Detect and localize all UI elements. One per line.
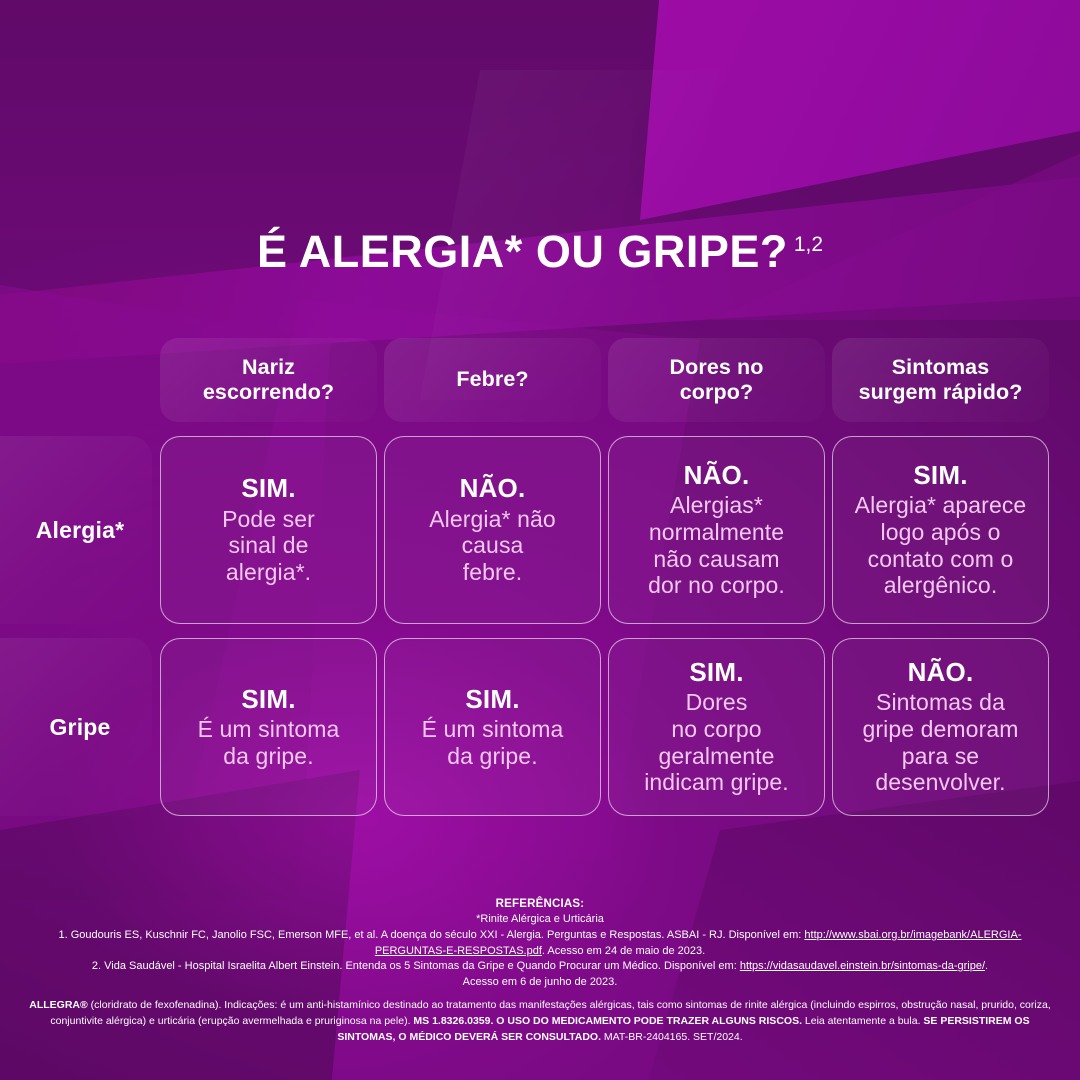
reference-2-text-a: 2. Vida Saudável - Hospital Israelita Al… — [92, 960, 740, 972]
column-header-nariz-escorrendo: Narizescorrendo? — [160, 338, 377, 422]
table-cell-alergia-sintomas: SIM. Alergia* aparecelogo após ocontato … — [832, 436, 1049, 624]
table-cell-alergia-nariz: SIM. Pode sersinal dealergia*. — [160, 436, 377, 624]
answer-verdict: NÃO. — [395, 474, 590, 503]
reference-2-text-b: . — [985, 960, 988, 972]
page-title-reference-marker: 1,2 — [794, 233, 823, 256]
answer-detail: Alergias*normalmentenão causamdor no cor… — [619, 492, 814, 599]
reference-1-url-part-a[interactable]: http://www.sbai.org.br/imagebank/ — [804, 929, 970, 941]
infographic-poster: É ALERGIA* OU GRIPE?1,2 Narizescorrendo?… — [0, 0, 1080, 1080]
table-cell-gripe-nariz: SIM. É um sintomada gripe. — [160, 638, 377, 816]
answer-detail: Pode sersinal dealergia*. — [171, 506, 366, 586]
page-title: É ALERGIA* OU GRIPE?1,2 — [0, 226, 1080, 278]
legal-brand-name: ALLEGRA® — [29, 999, 87, 1011]
answer-verdict: SIM. — [171, 685, 366, 714]
answer-verdict: NÃO. — [843, 658, 1038, 687]
answer-card-alergia-febre: NÃO. Alergia* nãocausafebre. — [384, 436, 601, 624]
table-header-cell-4: Sintomassurgem rápido? — [832, 338, 1049, 422]
answer-card-gripe-nariz: SIM. É um sintomada gripe. — [160, 638, 377, 816]
table-row-alergia: Alergia* SIM. Pode sersinal dealergia*. … — [0, 436, 1080, 624]
answer-detail: Sintomas dagripe demorampara sedesenvolv… — [843, 689, 1038, 796]
reference-item-1: 1. Goudouris ES, Kuschnir FC, Janolio FS… — [24, 928, 1056, 959]
row-label-gripe-text: Gripe — [49, 714, 110, 741]
answer-verdict: SIM. — [171, 474, 366, 503]
row-label-gripe: Gripe — [0, 638, 160, 816]
column-header-febre: Febre? — [384, 338, 601, 422]
table-header-cell-3: Dores nocorpo? — [608, 338, 825, 422]
reference-2-url[interactable]: https://vidasaudavel.einstein.br/sintoma… — [740, 960, 985, 972]
column-header-dores-no-corpo: Dores nocorpo? — [608, 338, 825, 422]
asterisk-footnote: *Rinite Alérgica e Urticária — [24, 913, 1056, 925]
answer-detail: É um sintomada gripe. — [395, 716, 590, 769]
legal-registration-warning: MS 1.8326.0359. O USO DO MEDICAMENTO POD… — [413, 1015, 802, 1027]
answer-card-gripe-sintomas: NÃO. Sintomas dagripe demorampara sedese… — [832, 638, 1049, 816]
answer-verdict: SIM. — [619, 658, 814, 687]
answer-verdict: SIM. — [395, 685, 590, 714]
answer-card-alergia-sintomas: SIM. Alergia* aparecelogo após ocontato … — [832, 436, 1049, 624]
legal-disclaimer: ALLEGRA® (cloridrato de fexofenadina). I… — [24, 998, 1056, 1045]
reference-2-access-date: Acesso em 6 de junho de 2023. — [24, 975, 1056, 991]
legal-material-code: MAT-BR-2404165. SET/2024. — [601, 1031, 743, 1043]
table-header-row: Narizescorrendo? Febre? Dores nocorpo? S… — [0, 338, 1080, 422]
row-label-alergia: Alergia* — [0, 436, 160, 624]
table-cell-alergia-febre: NÃO. Alergia* nãocausafebre. — [384, 436, 601, 624]
answer-detail: É um sintomada gripe. — [171, 716, 366, 769]
answer-detail: Alergia* aparecelogo após ocontato com o… — [843, 492, 1038, 599]
answer-card-gripe-dores: SIM. Doresno corpogeralmenteindicam grip… — [608, 638, 825, 816]
comparison-table: Narizescorrendo? Febre? Dores nocorpo? S… — [0, 338, 1080, 816]
table-cell-gripe-febre: SIM. É um sintomada gripe. — [384, 638, 601, 816]
reference-1-text-a: 1. Goudouris ES, Kuschnir FC, Janolio FS… — [59, 929, 805, 941]
references-heading: REFERÊNCIAS: — [24, 898, 1056, 910]
legal-leaflet-text: Leia atentamente a bula. — [802, 1015, 923, 1027]
reference-item-2: 2. Vida Saudável - Hospital Israelita Al… — [24, 959, 1056, 975]
column-header-sintomas-surgem-rapido: Sintomassurgem rápido? — [832, 338, 1049, 422]
answer-card-alergia-dores: NÃO. Alergias*normalmentenão causamdor n… — [608, 436, 825, 624]
answer-card-gripe-febre: SIM. É um sintomada gripe. — [384, 638, 601, 816]
table-cell-alergia-dores: NÃO. Alergias*normalmentenão causamdor n… — [608, 436, 825, 624]
answer-verdict: SIM. — [843, 461, 1038, 490]
answer-card-alergia-nariz: SIM. Pode sersinal dealergia*. — [160, 436, 377, 624]
table-cell-gripe-dores: SIM. Doresno corpogeralmenteindicam grip… — [608, 638, 825, 816]
answer-detail: Alergia* nãocausafebre. — [395, 506, 590, 586]
answer-verdict: NÃO. — [619, 461, 814, 490]
answer-detail: Doresno corpogeralmenteindicam gripe. — [619, 689, 814, 796]
table-row-gripe: Gripe SIM. É um sintomada gripe. SIM. É … — [0, 638, 1080, 816]
table-header-cell-2: Febre? — [384, 338, 601, 422]
reference-1-text-b: . Acesso em 24 de maio de 2023. — [542, 945, 705, 957]
table-cell-gripe-sintomas: NÃO. Sintomas dagripe demorampara sedese… — [832, 638, 1049, 816]
page-title-text: É ALERGIA* OU GRIPE? — [257, 226, 788, 277]
row-label-alergia-text: Alergia* — [36, 517, 125, 544]
poster-content: É ALERGIA* OU GRIPE?1,2 Narizescorrendo?… — [0, 0, 1080, 1080]
table-header-cell-1: Narizescorrendo? — [160, 338, 377, 422]
footer: REFERÊNCIAS: *Rinite Alérgica e Urticári… — [0, 898, 1080, 1045]
